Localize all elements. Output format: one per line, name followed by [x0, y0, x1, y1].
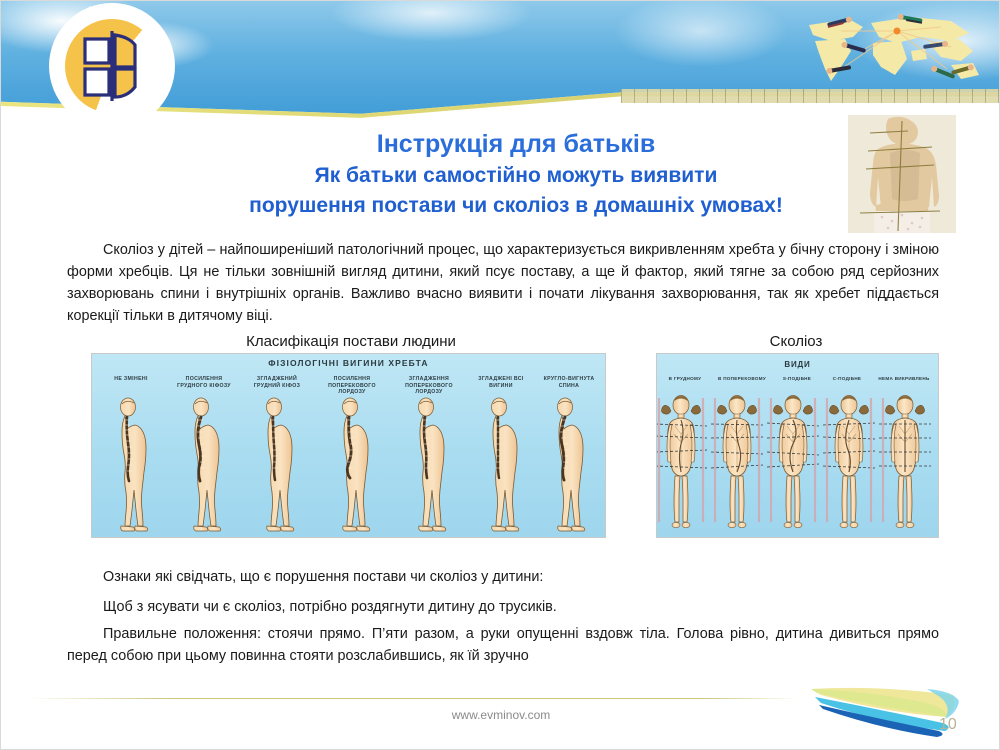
- logo-text: ЦЕНТР ЄВМІНОВА: [49, 3, 175, 121]
- posture-label-1: ПОСИЛЕННЯ ГРУДНОГО КІФОЗУ: [170, 376, 238, 389]
- figure-left-caption: Класифікація постави людини: [141, 333, 561, 350]
- logo-bottom-text: ЄВМІНОВА: [49, 112, 175, 121]
- slide: ЦЕНТР ЄВМІНОВА Інструкція для батьків Як…: [0, 0, 1000, 750]
- posture-panel-title: ФІЗІОЛОГІЧНІ ВИГИНИ ХРЕБТА: [92, 358, 605, 368]
- scoliosis-label-3: C-ПОДІБНЕ: [823, 376, 871, 383]
- signs-paragraph: Ознаки які свідчать, що є порушення пост…: [67, 566, 939, 588]
- strip-paragraph: Щоб з ясувати чи є сколіоз, потрібно роз…: [67, 596, 939, 618]
- scoliosis-label-4: НЕМА ВИКРИВЛЕНЬ: [873, 376, 935, 383]
- intro-paragraph: Сколіоз у дітей – найпоширеніший патолог…: [67, 239, 939, 327]
- posture-label-6: КРУГЛО-ВИГНУТА СПИНА: [536, 376, 602, 389]
- scoliosis-types-panel: ВИДИ В ГРУДНОМУ В ПОПЕРЕКОВОМУ S-ПОДІБНЕ…: [656, 353, 939, 538]
- footer-divider: [29, 698, 797, 699]
- scoliosis-label-2: S-ПОДІБНЕ: [773, 376, 821, 383]
- posture-label-4: ЗГЛАДЖЕННЯ ПОПЕРЕКОВОГО ЛОРДОЗУ: [392, 376, 466, 396]
- figure-right-caption: Сколіоз: [661, 333, 931, 350]
- title-line-3: порушення постави чи сколіоз в домашніх …: [201, 191, 831, 221]
- world-map-icon: [801, 7, 991, 95]
- page-title: Інструкція для батьків Як батьки самості…: [201, 127, 831, 221]
- scoliosis-panel-title: ВИДИ: [657, 360, 938, 369]
- posture-label-0: НЕ ЗМІНЕНІ: [97, 376, 165, 383]
- scoliosis-label-1: В ПОПЕРЕКОВОМУ: [713, 376, 771, 383]
- child-back-posture-photo: [848, 115, 956, 233]
- title-line-2: Як батьки самостійно можуть виявити: [201, 161, 831, 191]
- scoliosis-figures: [657, 392, 938, 537]
- page-number: 10: [939, 716, 957, 734]
- title-line-1: Інструкція для батьків: [201, 127, 831, 161]
- posture-figures: [92, 394, 605, 536]
- logo: ЦЕНТР ЄВМІНОВА: [49, 3, 175, 121]
- posture-classification-panel: ФІЗІОЛОГІЧНІ ВИГИНИ ХРЕБТА НЕ ЗМІНЕНІ ПО…: [91, 353, 606, 538]
- scoliosis-label-0: В ГРУДНОМУ: [659, 376, 711, 383]
- posture-label-5: ЗГЛАДЖЕНІ ВСІ ВИГИНИ: [470, 376, 532, 389]
- logo-top-text: ЦЕНТР: [49, 5, 175, 17]
- slide-header: ЦЕНТР ЄВМІНОВА: [1, 1, 1000, 121]
- posture-label-3: ПОСИЛЕННЯ ПОПЕРЕКОВОГО ЛОРДОЗУ: [316, 376, 388, 396]
- posture-label-2: ЗГЛАДЖЕНИЙ ГРУДНИЙ КІФОЗ: [243, 376, 311, 389]
- position-paragraph: Правильне положення: стоячи прямо. П’яти…: [67, 623, 939, 667]
